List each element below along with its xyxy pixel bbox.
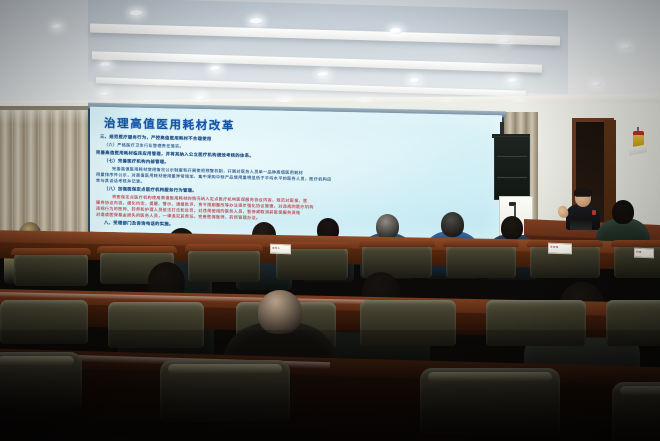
nameplate-3-text: 列席	[636, 250, 642, 254]
slide-line-7: 单与其谈话考核并记录。	[96, 178, 145, 185]
presenter-laptop	[570, 218, 592, 231]
downlight-11	[508, 78, 518, 83]
downlight-8	[210, 66, 221, 71]
projection-screen: 治理高值医用耗材改革 三、规范医疗服务行为，严控高值医用耗材不合理使用（六）严格…	[90, 107, 502, 241]
audience-chair-row2-1[interactable]	[0, 300, 88, 344]
downlight-4	[390, 28, 402, 34]
audience-chair-row2-5[interactable]	[486, 300, 586, 346]
foreground-chair-2-highlight	[168, 364, 282, 374]
conference-room-photo: 治理高值医用耗材改革 三、规范医疗服务行为，严控高值医用耗材不合理使用（六）严格…	[0, 0, 660, 441]
downlight-9	[318, 72, 329, 77]
downlight-12	[592, 82, 601, 86]
audience-chair-row1-2-wood	[97, 246, 177, 253]
downlight-7	[100, 62, 111, 67]
downlight-3	[250, 18, 263, 24]
presenter-glasses-icon	[576, 196, 590, 200]
presenter-hair	[574, 188, 592, 196]
audience-chair-row1-1-wood	[11, 248, 91, 255]
nameplate-1: 发言席	[548, 243, 572, 255]
audience-chair-row1-6[interactable]	[446, 244, 516, 278]
attendee-right-navy-head	[501, 216, 523, 240]
downlight-2	[130, 10, 143, 16]
slide-title: 治理高值医用耗材改革	[104, 115, 235, 134]
downlight-13	[100, 92, 110, 96]
downlight-10	[410, 78, 420, 83]
nameplate-3: 列席	[634, 248, 654, 259]
audience-chair-row2-4[interactable]	[360, 300, 456, 346]
audience-chair-row2-6[interactable]	[606, 300, 660, 346]
foreground-chair-3-highlight	[428, 372, 552, 382]
audience-chair-row2-2[interactable]	[108, 302, 204, 348]
curtain-rod	[0, 106, 96, 110]
audience-chair-row1-3-wood	[185, 244, 263, 251]
audience-chair-row1-3[interactable]	[188, 248, 260, 282]
presenter-badge-icon	[592, 210, 596, 215]
audience-chair-row1-1[interactable]	[14, 252, 88, 286]
nameplate-1-text: 发言席	[550, 245, 558, 249]
ceiling-speaker-rack	[494, 136, 530, 200]
foreground-chair-1-highlight	[0, 356, 74, 366]
audience-chair-row1-5-wood	[359, 240, 435, 247]
curtain-left-highlight	[0, 108, 96, 124]
downlight-1	[52, 24, 62, 29]
foreground-chair-4-highlight	[620, 386, 660, 396]
attendee-front-bald-head	[258, 290, 302, 334]
audience-chair-row1-8-wood	[611, 240, 660, 247]
attendee-right-green-head	[612, 200, 634, 224]
attendee-blue-jacket-head	[441, 212, 464, 237]
nameplate-2: 主持人	[270, 244, 291, 255]
downlight-14	[196, 96, 206, 100]
curtain-left	[0, 108, 96, 236]
downlight-5	[500, 38, 511, 43]
attendee-grey-hair-head	[376, 214, 399, 239]
downlight-6	[620, 44, 631, 49]
nameplate-2-text: 主持人	[272, 246, 280, 250]
audience-chair-row1-6-wood	[443, 240, 519, 247]
